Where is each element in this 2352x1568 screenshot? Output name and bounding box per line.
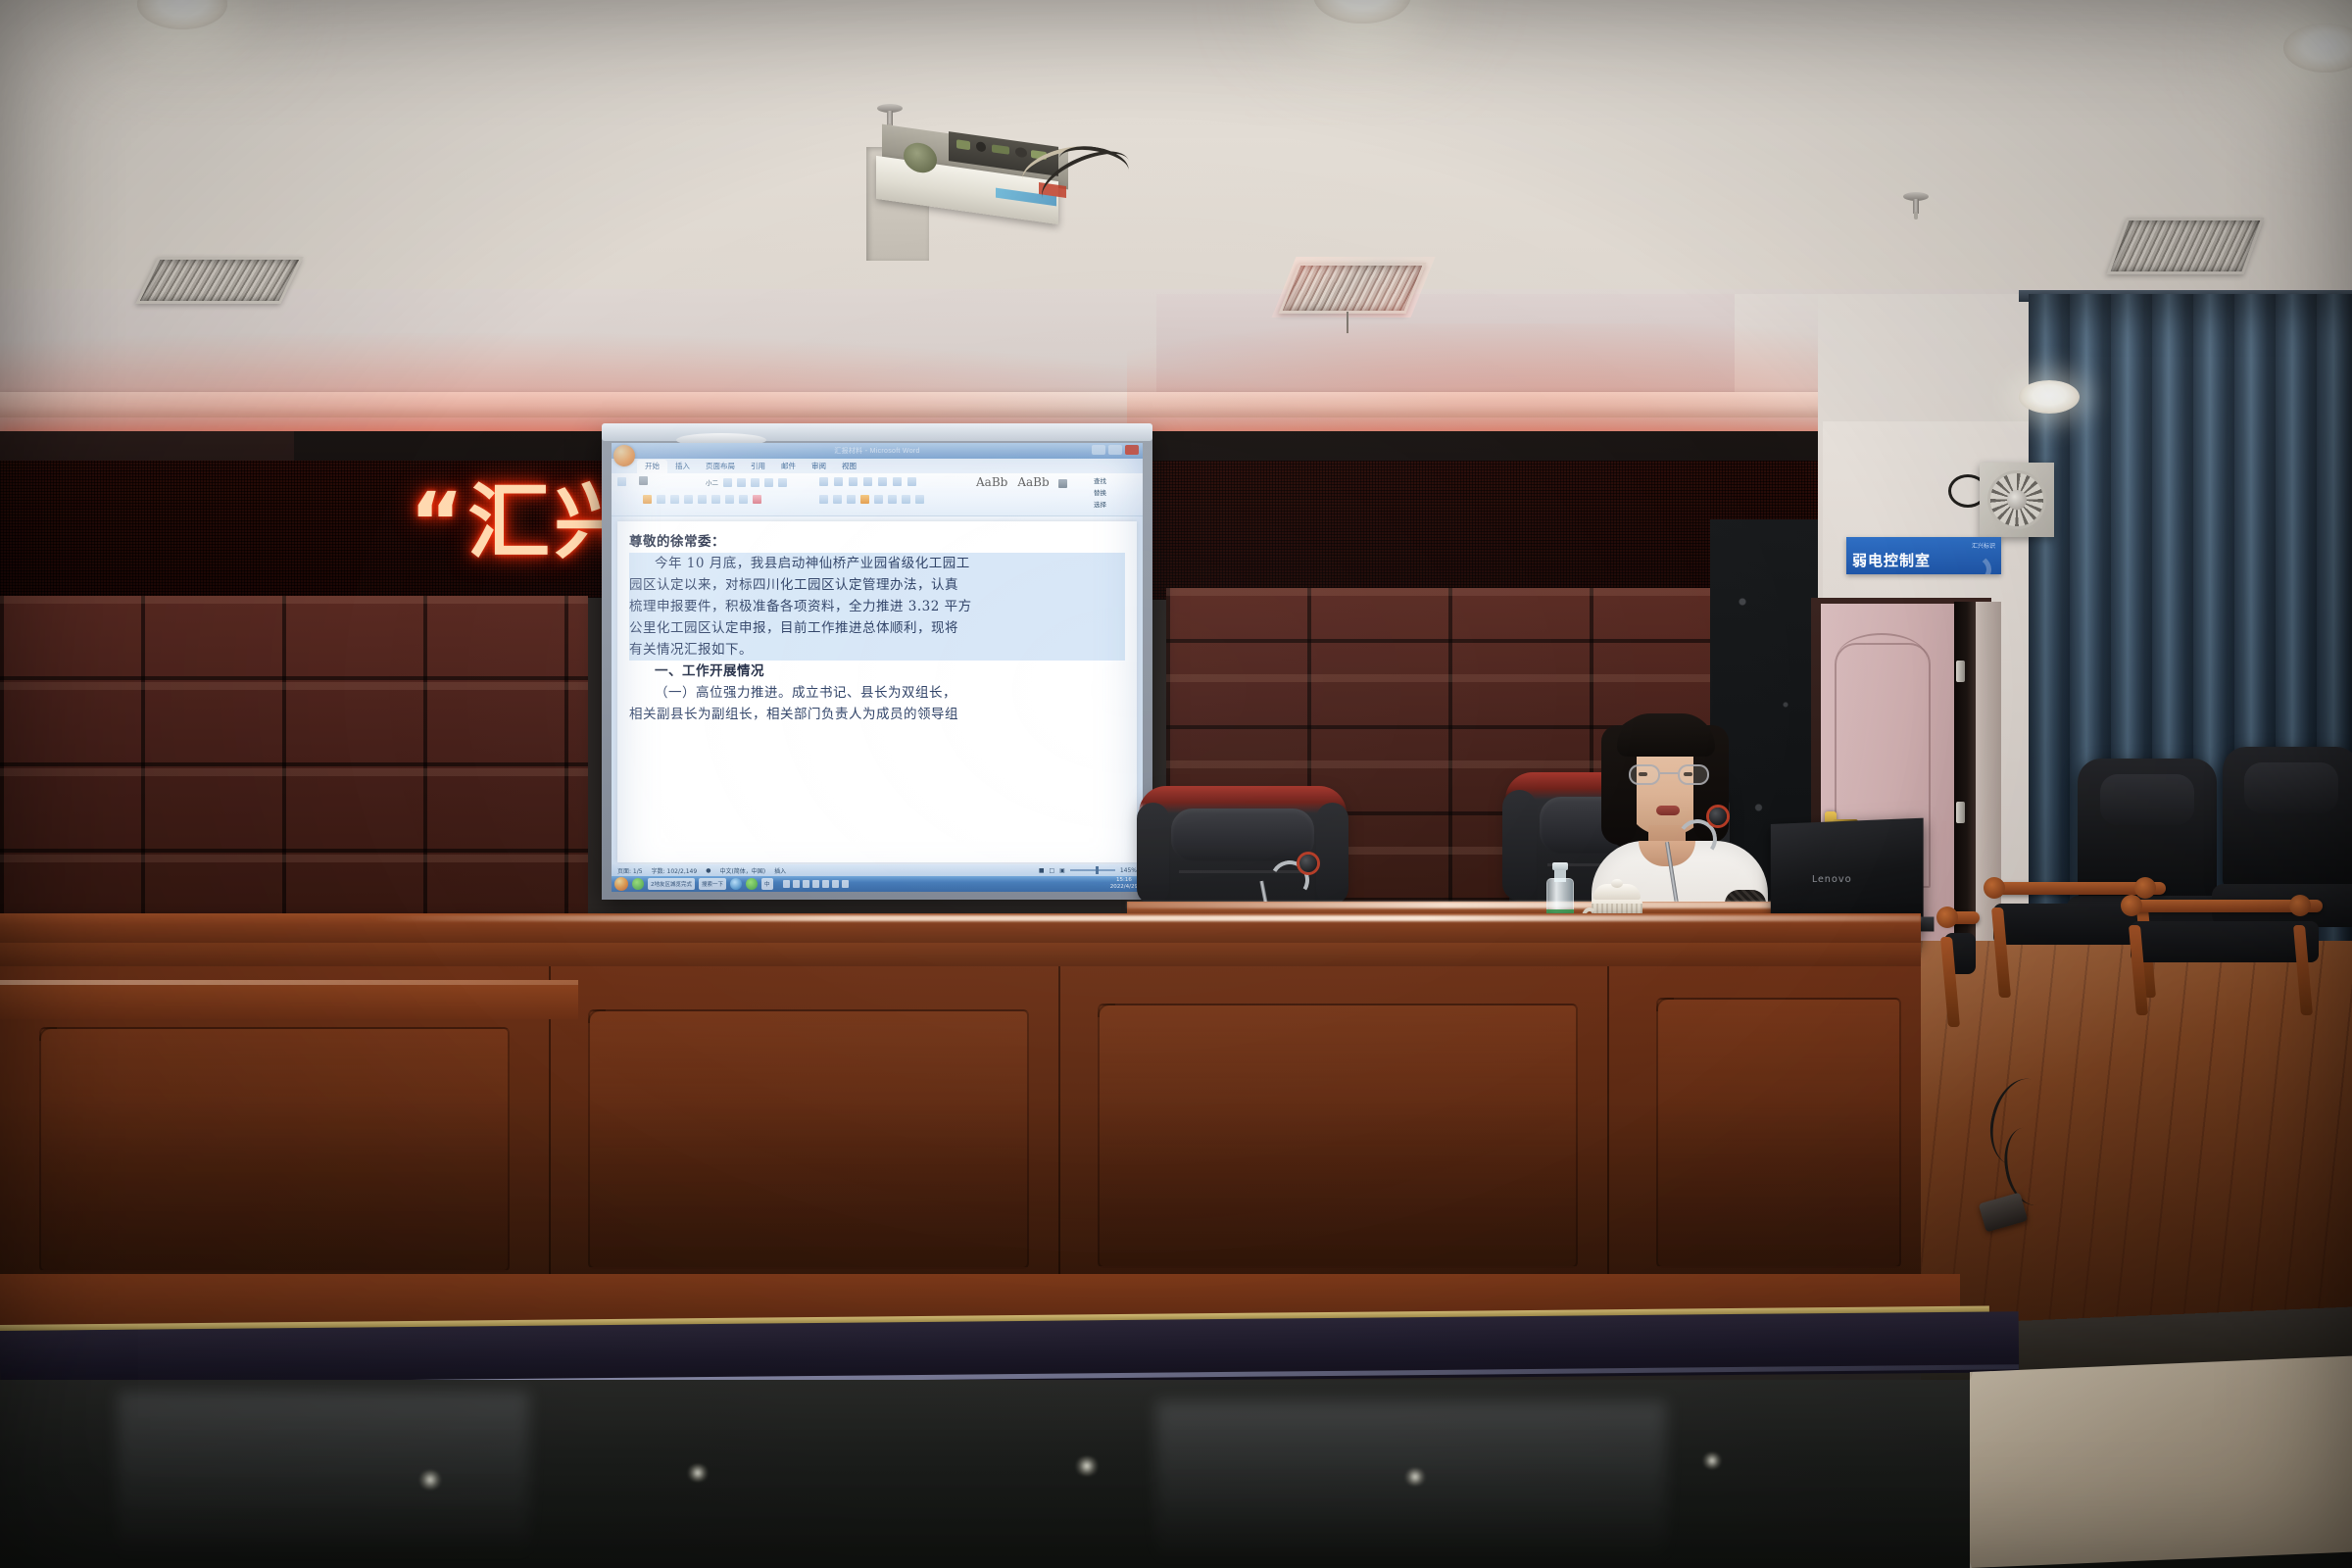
maximize-button[interactable] [1108, 445, 1122, 455]
highlight-icon[interactable] [739, 495, 748, 504]
tray-shield-icon [812, 880, 819, 888]
room-sign: 汇兴标识 弱电控制室 [1846, 537, 2001, 574]
sign-brand-label: 汇兴标识 [1972, 541, 1995, 550]
leather-wall-panel-left [0, 596, 588, 939]
window-controls[interactable] [1092, 445, 1139, 455]
status-page: 页面: 1/5 [617, 866, 643, 875]
doc-body-line: 今年 10 月底，我县启动神仙桥产业园省级化工园工 [629, 553, 1125, 574]
marble-floor-right [1970, 1356, 2352, 1568]
word-status-bar: 页面: 1/5 字数: 102/2,149 ● 中文(简体，中国) 插入 ■ □… [612, 864, 1143, 876]
character-border-icon[interactable] [778, 478, 787, 487]
tray-battery-icon [783, 880, 790, 888]
word-ribbon[interactable]: 小二 AaBb AaBb [612, 473, 1143, 516]
text-effects-icon[interactable] [725, 495, 734, 504]
doc-body-line: 有关情况汇报如下。 [629, 639, 1125, 661]
numbering-icon[interactable] [834, 477, 843, 486]
select-label[interactable]: 选择 [1094, 499, 1106, 509]
wall-mounted-fan-icon [1980, 463, 2054, 537]
grow-font-icon[interactable] [723, 478, 732, 487]
align-left-icon[interactable] [819, 495, 828, 504]
doc-body-line: 梳理申报要件，积极准备各项资料，全力推进 3.32 平方 [629, 596, 1125, 617]
line-spacing-icon[interactable] [888, 495, 897, 504]
word-ribbon-tabs[interactable]: 开始 插入 页面布局 引用 邮件 审阅 视图 [637, 459, 864, 473]
word-title-bar: 汇报材料 - Microsoft Word [612, 443, 1143, 459]
podium-shadow [0, 1098, 1921, 1294]
strikethrough-icon[interactable] [684, 495, 693, 504]
tab-review[interactable]: 审阅 [804, 460, 834, 473]
podium-left-ledge [0, 980, 578, 1019]
align-right-icon[interactable] [847, 495, 856, 504]
start-button-icon[interactable] [614, 877, 628, 891]
eyeglasses-icon [1629, 764, 1709, 786]
tab-insert[interactable]: 插入 [667, 460, 698, 473]
proofing-icon[interactable]: ● [706, 867, 710, 874]
laptop-brand-label: Lenovo [1812, 874, 1852, 885]
podium-left-ledge-highlight [0, 980, 578, 985]
downlight-icon [2019, 380, 2080, 414]
sort-icon[interactable] [893, 477, 902, 486]
taskbar-app-icon[interactable] [632, 878, 644, 890]
sign-text: 弱电控制室 [1852, 550, 1931, 570]
style-sample-normal[interactable]: AaBb [976, 475, 1007, 489]
clock-time: 15:16 [1110, 877, 1138, 884]
floor-light-reflection [417, 1470, 443, 1490]
status-language[interactable]: 中文(简体，中国) [719, 866, 765, 875]
podium-counter-edge [0, 943, 1921, 968]
distribute-icon[interactable] [874, 495, 883, 504]
font-color-icon[interactable] [753, 495, 761, 504]
internet-explorer-icon[interactable] [730, 878, 742, 890]
decrease-indent-icon[interactable] [863, 477, 872, 486]
find-label[interactable]: 查找 [1094, 475, 1106, 485]
tray-display-icon [803, 880, 809, 888]
tab-home[interactable]: 开始 [637, 460, 667, 473]
bullets-icon[interactable] [819, 477, 828, 486]
tab-mailings[interactable]: 邮件 [773, 460, 804, 473]
zoom-slider[interactable] [1070, 869, 1115, 871]
door-hinge-icon [1956, 802, 1965, 823]
close-button[interactable] [1125, 445, 1139, 455]
vent-pull-cord [1347, 312, 1348, 333]
system-tray[interactable] [783, 880, 849, 888]
floor-light-reflection [1074, 1456, 1100, 1476]
style-sample-nospacing[interactable]: AaBb [1017, 475, 1049, 489]
paste-icon[interactable] [617, 477, 626, 486]
view-fullscreen-icon[interactable]: □ [1050, 867, 1055, 874]
doc-body-line: 园区认定以来，对标四川化工园区认定管理办法，认真 [629, 574, 1125, 596]
justify-icon[interactable] [860, 495, 869, 504]
bold-icon[interactable] [643, 495, 652, 504]
floor-sheen [118, 1392, 529, 1558]
document-page[interactable]: 尊敬的徐常委： 今年 10 月底，我县启动神仙桥产业园省级化工园工 园区认定以来… [617, 521, 1137, 862]
door-gap [1954, 602, 1976, 943]
multilevel-list-icon[interactable] [849, 477, 857, 486]
windows-taskbar[interactable]: 2地友区城览完式 搜索一下 中 15:16 2022/4/29 [612, 876, 1143, 892]
tray-sync-icon [832, 880, 839, 888]
increase-indent-icon[interactable] [878, 477, 887, 486]
tab-references[interactable]: 引用 [743, 460, 773, 473]
tray-volume-icon [822, 880, 829, 888]
shrink-font-icon[interactable] [737, 478, 746, 487]
conference-room-photo: “汇兴 训班 办会相关业务知识 汇报材料 - Microsoft Word 开始… [0, 0, 2352, 1568]
subscript-icon[interactable] [698, 495, 707, 504]
tab-page-layout[interactable]: 页面布局 [698, 460, 743, 473]
taskbar-item[interactable]: 搜索一下 [699, 878, 726, 890]
floor-light-reflection [1701, 1452, 1723, 1469]
hvac-vent [2106, 218, 2264, 274]
floor-light-reflection [686, 1464, 710, 1482]
floor-light-reflection [1403, 1468, 1427, 1486]
tray-usb-icon [842, 880, 849, 888]
doc-heading: 一、工作开展情况 [629, 661, 1125, 682]
minimize-button[interactable] [1092, 445, 1105, 455]
align-center-icon[interactable] [833, 495, 842, 504]
tray-network-icon [793, 880, 800, 888]
italic-icon[interactable] [657, 495, 665, 504]
superscript-icon[interactable] [711, 495, 720, 504]
shading-icon[interactable] [902, 495, 910, 504]
zoom-level[interactable]: 145% [1120, 867, 1137, 874]
replace-label[interactable]: 替换 [1094, 487, 1106, 497]
status-insert-mode[interactable]: 插入 [774, 866, 786, 875]
font-icon[interactable] [639, 476, 648, 485]
clear-formatting-icon[interactable] [751, 478, 759, 487]
font-size-value[interactable]: 小二 [706, 477, 718, 487]
doc-subheading: （一）高位强力推进。成立书记、县长为双组长， [629, 682, 1125, 704]
view-print-layout-icon[interactable]: ■ [1039, 867, 1045, 874]
status-word-count: 字数: 102/2,149 [652, 866, 698, 875]
browser-icon[interactable] [746, 878, 758, 890]
underline-icon[interactable] [670, 495, 679, 504]
tab-view[interactable]: 视图 [834, 460, 864, 473]
presenter-bangs [1617, 713, 1715, 757]
projection-screen-surface: 汇报材料 - Microsoft Word 开始 插入 页面布局 引用 邮件 审… [612, 443, 1143, 892]
hvac-vent [1278, 263, 1426, 314]
doc-subheading-cont: 相关副县长为副组长，相关部门负责人为成员的领导组 [629, 704, 1125, 725]
taskbar-item[interactable]: 2地友区城览完式 [648, 878, 695, 890]
phonetic-guide-icon[interactable] [764, 478, 773, 487]
hvac-vent [135, 257, 303, 304]
door-hinge-icon [1956, 661, 1965, 682]
doc-salutation: 尊敬的徐常委： [629, 531, 1125, 553]
borders-icon[interactable] [915, 495, 924, 504]
doc-body-line: 公里化工园区认定申报，目前工作推进总体顺利，现将 [629, 617, 1125, 639]
change-styles-icon[interactable] [1058, 479, 1067, 488]
taskbar-clock[interactable]: 15:16 2022/4/29 [1110, 877, 1140, 891]
wooden-armchair [2127, 900, 2323, 1037]
clock-date: 2022/4/29 [1110, 884, 1138, 891]
word-title-text: 汇报材料 - Microsoft Word [834, 446, 919, 456]
show-marks-icon[interactable] [907, 477, 916, 486]
view-web-layout-icon[interactable]: ▣ [1059, 867, 1065, 874]
wooden-armchair [1940, 911, 1980, 1019]
ime-indicator[interactable]: 中 [761, 878, 773, 890]
office-orb-icon[interactable] [613, 445, 635, 466]
ceiling [0, 0, 2352, 294]
podium-counter-highlight [372, 915, 1921, 921]
